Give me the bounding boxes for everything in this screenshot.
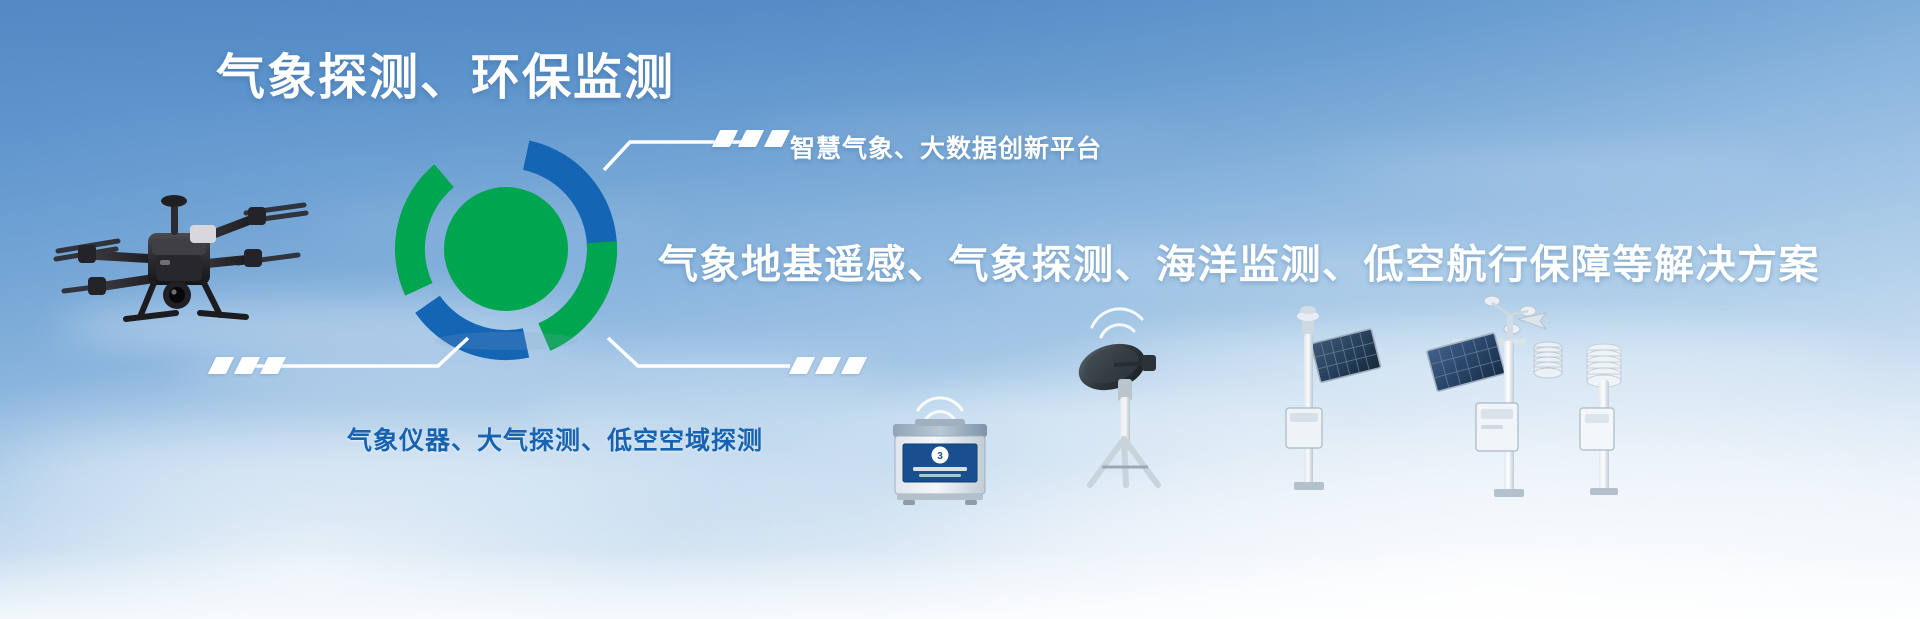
slash-mark — [712, 130, 738, 147]
drone-icon — [40, 155, 330, 330]
slash-mark — [764, 130, 790, 147]
callout-top-label: 智慧气象、大数据创新平台 — [790, 129, 1102, 165]
weather-station-mast-icon — [1400, 285, 1570, 505]
connector-line-bottom-right — [604, 330, 834, 382]
solar-monitoring-station-icon — [1272, 300, 1392, 500]
slash-mark — [260, 357, 286, 374]
cloud-streak — [1320, 150, 1780, 180]
slash-mark — [234, 357, 260, 374]
banner-root: 气象探测、环保监测 — [0, 0, 1920, 619]
connector-line-top — [600, 118, 790, 178]
ring-diagram — [392, 135, 620, 363]
slash-marker-bottom-right — [793, 357, 863, 374]
slash-mark — [208, 357, 234, 374]
slash-mark — [789, 357, 815, 374]
solar-monitoring-station-secondary-icon — [1560, 330, 1650, 500]
slash-mark — [738, 130, 764, 147]
cabinet-brand-mark: 3 — [937, 451, 943, 462]
slash-mark — [841, 357, 867, 374]
callout-bottom-label: 气象仪器、大气探测、低空空域探测 — [347, 421, 763, 457]
instrument-cabinet-icon: 3 — [885, 388, 995, 506]
callout-main-label: 气象地基遥感、气象探测、海洋监测、低空航行保障等解决方案 — [658, 232, 1820, 290]
slash-marker-top — [716, 130, 786, 147]
page-title: 气象探测、环保监测 — [216, 50, 675, 108]
ground-haze — [0, 549, 1920, 619]
satellite-dish-tripod-icon — [1062, 305, 1192, 490]
slash-mark — [815, 357, 841, 374]
slash-marker-bottom-left — [212, 357, 282, 374]
